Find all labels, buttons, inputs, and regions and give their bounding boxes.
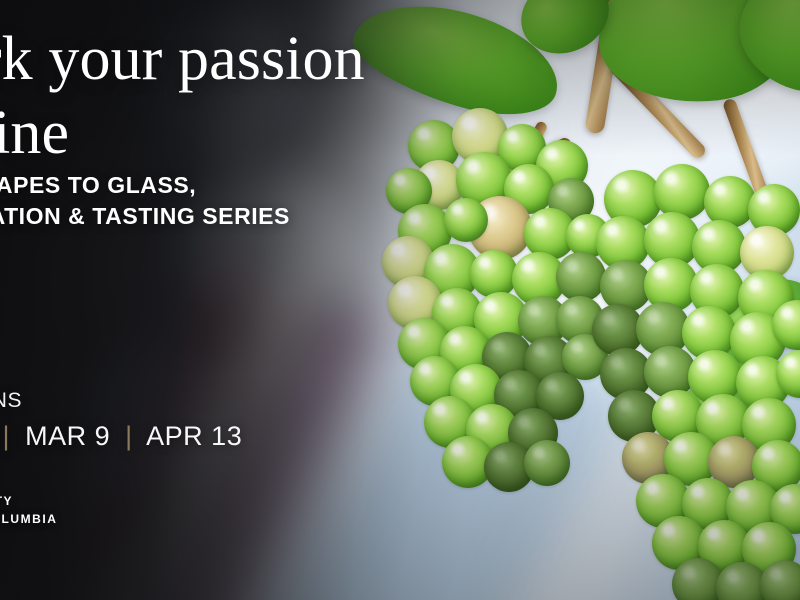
sessions-time: 7:00PM xyxy=(0,456,470,484)
date-separator: | xyxy=(0,421,17,451)
session-date: APR 13 xyxy=(146,421,242,451)
logo-line-university: THE UNIVERSITY xyxy=(0,492,312,510)
banner-content: uncork your passion for wine UBC'S GRAPE… xyxy=(0,0,800,600)
page-title: uncork your passion for wine xyxy=(0,22,560,170)
sessions-block: SESSIONS FEB 9 | MAR 9 | APR 13 7:00PM xyxy=(0,387,470,484)
date-separator: | xyxy=(118,421,140,451)
sessions-dates: FEB 9 | MAR 9 | APR 13 xyxy=(0,419,470,453)
promotional-banner: uncork your passion for wine UBC'S GRAPE… xyxy=(0,0,800,600)
session-date: MAR 9 xyxy=(25,421,110,451)
ubc-logo: THE UNIVERSITY OF BRITISH COLUMBIA xyxy=(0,492,312,528)
banner-subtitle: UBC'S GRAPES TO GLASS, AN EDUCATION & TA… xyxy=(0,170,500,232)
logo-line-province: OF BRITISH COLUMBIA xyxy=(0,510,312,528)
sessions-label: SESSIONS xyxy=(0,387,470,414)
